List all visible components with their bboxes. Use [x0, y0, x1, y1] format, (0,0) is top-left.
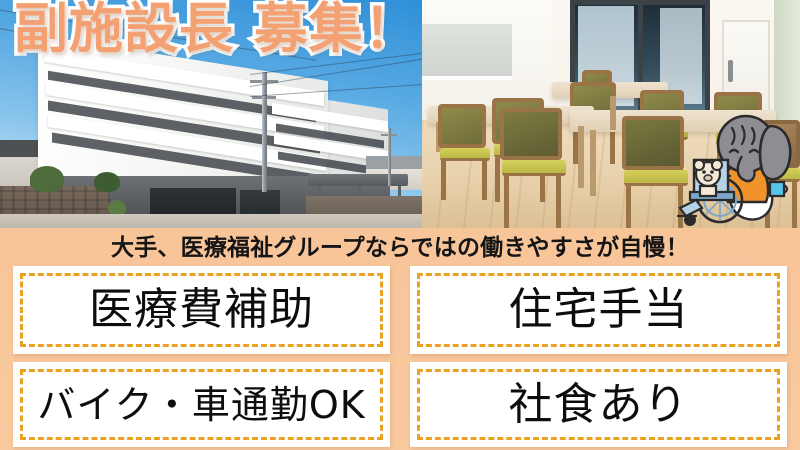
- perk-label: 医療費補助: [89, 288, 314, 332]
- table-leg: [590, 130, 596, 196]
- perk-housing-allowance: 住宅手当: [410, 266, 787, 354]
- elephant-wheelchair-mascot: [674, 112, 796, 230]
- table-leg: [578, 126, 584, 188]
- perk-label: バイク・車通勤OK: [37, 386, 365, 424]
- perk-card-grid: 医療費補助 住宅手当 バイク・車通勤OK 社食あり: [13, 266, 787, 447]
- perk-dashed-frame: 医療費補助: [20, 273, 383, 347]
- perk-dashed-frame: バイク・車通勤OK: [20, 369, 383, 440]
- curtain: [774, 0, 800, 120]
- job-ad-banner: 副施設長 募集！ 大手、医療福祉グループならではの働きやすさが自慢！ 医療費補助…: [0, 0, 800, 450]
- perk-medical-expense-support: 医療費補助: [13, 266, 390, 354]
- utility-pole-distant: [388, 128, 391, 186]
- ground-pavement: [0, 214, 422, 228]
- page-title: 副施設長 募集！: [14, 2, 419, 56]
- parking-canopy: [308, 174, 408, 186]
- perk-cafeteria-available: 社食あり: [410, 362, 787, 447]
- perk-dashed-frame: 住宅手当: [417, 273, 780, 347]
- perk-bike-car-commute-ok: バイク・車通勤OK: [13, 362, 390, 447]
- table-leg: [610, 96, 616, 130]
- shrub: [30, 166, 64, 192]
- shrub: [94, 172, 120, 192]
- subtitle-tagline: 大手、医療福祉グループならではの働きやすさが自慢！: [0, 228, 800, 262]
- perk-dashed-frame: 社食あり: [417, 369, 780, 440]
- perk-label: 住宅手当: [509, 288, 689, 332]
- perk-label: 社食あり: [509, 383, 689, 427]
- service-counter: [422, 24, 512, 80]
- utility-pole: [262, 72, 267, 192]
- door-handle: [728, 60, 733, 82]
